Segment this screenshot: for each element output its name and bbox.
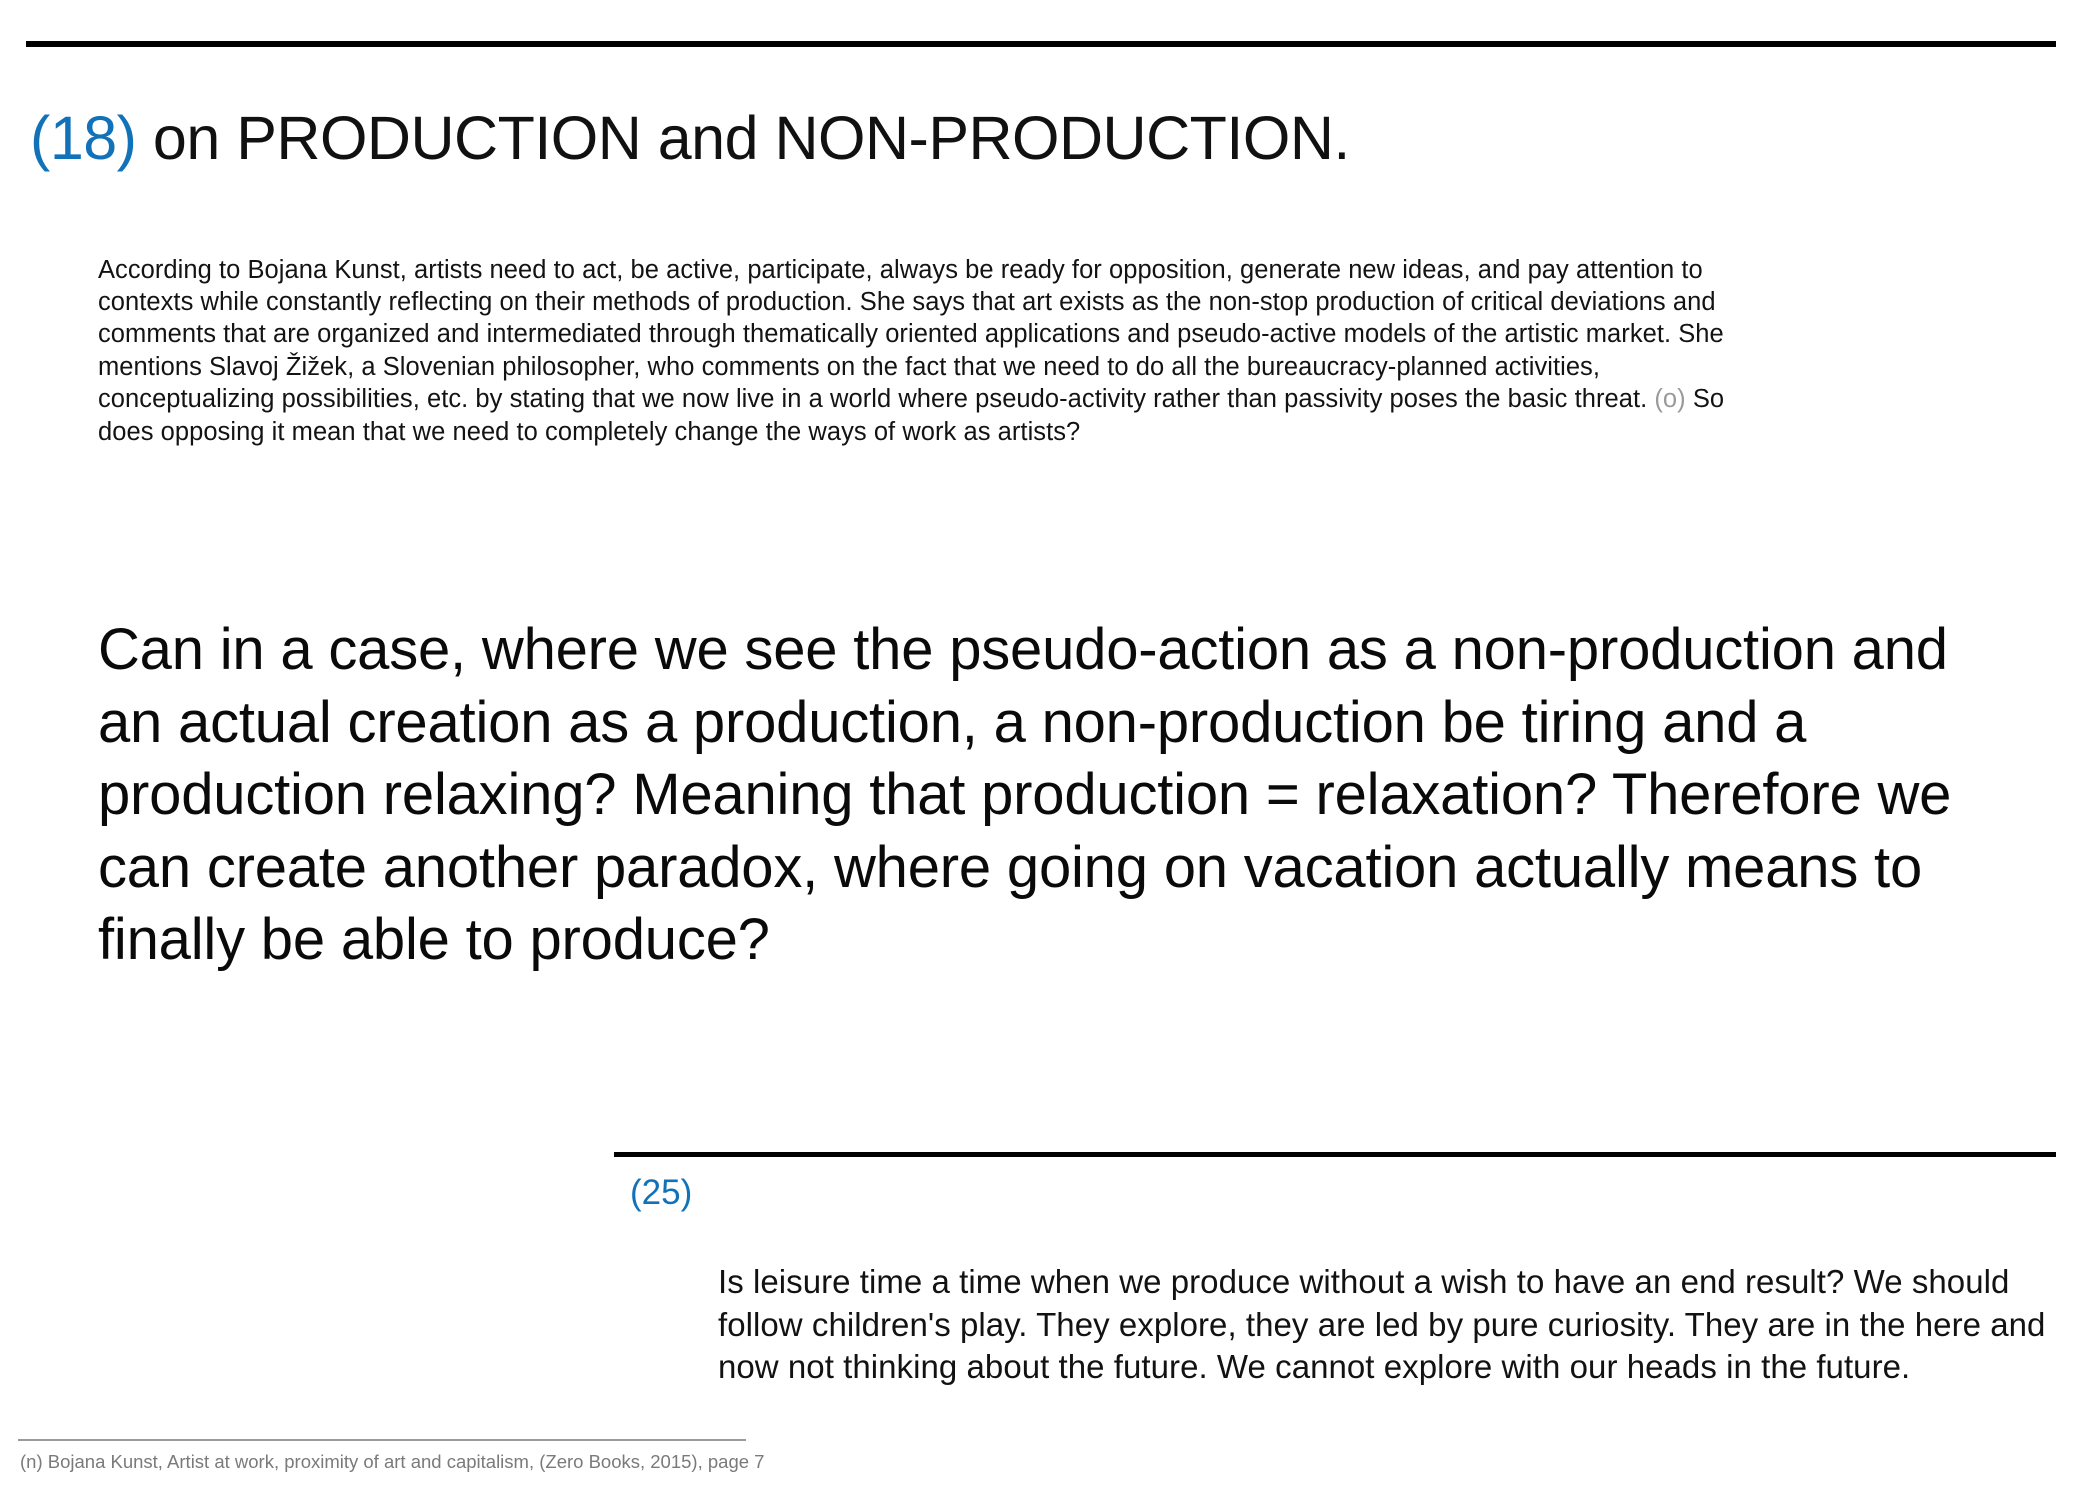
quote-text: Is leisure time a time when we produce w… bbox=[718, 1261, 2063, 1389]
document-page: (18) on PRODUCTION and NON-PRODUCTION. A… bbox=[0, 0, 2080, 1490]
footnote-text: (n) Bojana Kunst, Artist at work, proxim… bbox=[20, 1450, 764, 1474]
intro-paragraph: According to Bojana Kunst, artists need … bbox=[98, 254, 1738, 448]
quote-divider bbox=[614, 1152, 2056, 1157]
quote-number: (25) bbox=[630, 1172, 692, 1214]
intro-footnote-marker: (o) bbox=[1654, 385, 1685, 413]
statement-text: Can in a case, where we see the pseudo-a… bbox=[98, 614, 1968, 977]
intro-text-before-marker: According to Bojana Kunst, artists need … bbox=[98, 256, 1724, 414]
page-title-number: (18) bbox=[30, 104, 136, 172]
header-divider bbox=[26, 41, 2056, 47]
page-title: (18) on PRODUCTION and NON-PRODUCTION. bbox=[30, 103, 1350, 173]
page-title-text: on PRODUCTION and NON-PRODUCTION. bbox=[136, 104, 1349, 172]
footnote-divider bbox=[18, 1439, 746, 1441]
